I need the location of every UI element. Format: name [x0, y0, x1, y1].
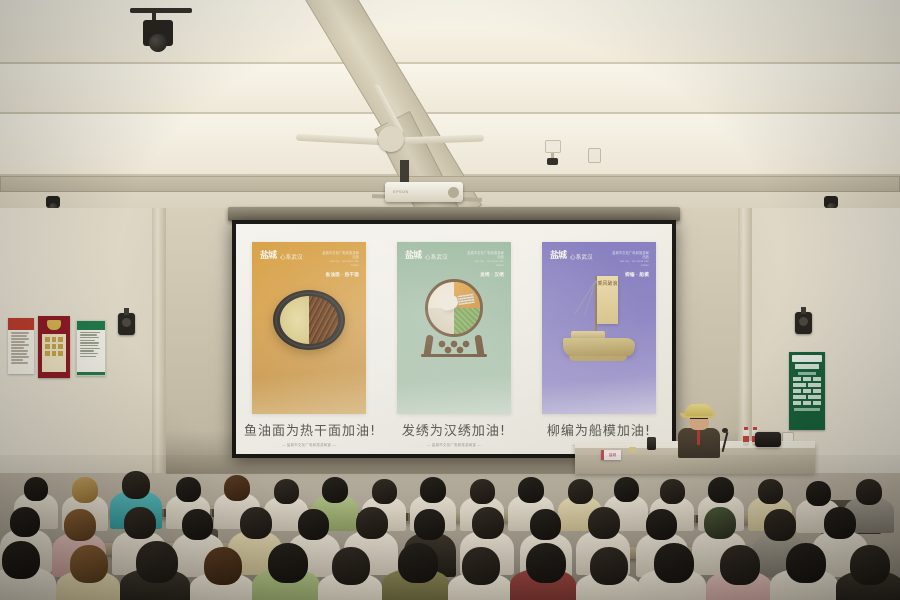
- poster-1: 盐城 心系武汉 盐城市文化广电和旅游局出品 salt city · we sta…: [252, 242, 366, 414]
- bowl-rim: [275, 292, 343, 348]
- boat-model-artwork: 乘风破浪: [557, 274, 641, 370]
- stand-scrollwork: [433, 339, 475, 355]
- audience-head: [758, 479, 783, 504]
- audience-head: [530, 509, 561, 540]
- speaker-bracket: [124, 308, 129, 315]
- lighting-rail: [130, 8, 192, 13]
- projector: EPSON: [385, 182, 463, 202]
- audience-head: [856, 479, 882, 505]
- projector-brand-label: EPSON: [393, 189, 409, 194]
- audience-head: [708, 477, 734, 503]
- caption-text: 发绣为汉绣加油!: [389, 420, 519, 439]
- presenter-cap: [685, 404, 713, 416]
- audience-head: [70, 545, 108, 583]
- audience-head: [568, 479, 593, 504]
- notice-header: [792, 355, 822, 362]
- ceiling-wall-box: [588, 148, 601, 163]
- audience-head: [356, 507, 388, 539]
- notice-header: [77, 321, 105, 330]
- meta-line-1: 盐城市文化广电和旅游局出品: [466, 251, 504, 260]
- notice-red: [8, 318, 34, 374]
- presenter-lanyard: [697, 429, 700, 445]
- audience-head: [72, 477, 98, 503]
- meta-line-2: salt city · we stand with wuhan: [321, 260, 359, 268]
- brand-slogan: 心系武汉: [570, 253, 593, 261]
- embroidery-quadrant: [428, 308, 454, 334]
- audience-head: [122, 471, 150, 499]
- fan-hub: [378, 126, 404, 152]
- camera-housing: [545, 140, 561, 153]
- poster-1-meta: 盐城市文化广电和旅游局出品 salt city · we stand with …: [321, 251, 359, 278]
- brand-mark: 盐城: [405, 251, 421, 262]
- audience-head: [764, 509, 796, 541]
- audience-head: [414, 509, 445, 540]
- audience-head: [462, 547, 500, 585]
- microphone-head: [722, 428, 728, 433]
- meta-line-1: 盐城市文化广电和旅游局出品: [321, 251, 359, 260]
- audience-head: [590, 547, 628, 585]
- notice-footer: [77, 372, 105, 375]
- wall-speaker-left: [118, 313, 135, 335]
- speaker-bracket: [801, 307, 806, 314]
- glasses-icon: [690, 418, 708, 423]
- caption-text: 柳编为船模加油!: [534, 420, 664, 439]
- audience-head: [10, 507, 40, 537]
- notice-header: [8, 318, 34, 330]
- sail-text: 乘风破浪: [597, 281, 618, 288]
- audience-head: [720, 545, 760, 585]
- noodle-bowl-artwork: [273, 290, 345, 350]
- poster-2-caption: 发绣为汉绣加油! — 盐城市文化广电和旅游局宣 —: [389, 420, 519, 447]
- audience-head: [786, 543, 826, 583]
- audience-head: [268, 543, 308, 583]
- spotlight-lens: [149, 34, 167, 52]
- projector-mount: [400, 160, 409, 184]
- notice-text-lines: [77, 330, 105, 359]
- audience-head: [274, 479, 299, 504]
- notice-green: [76, 320, 106, 376]
- audience-head: [420, 477, 446, 503]
- meta-line-2: salt city · we stand with wuhan: [466, 260, 504, 268]
- audience-head: [240, 507, 272, 539]
- wall-column-left: [152, 208, 166, 473]
- poster-1-logo: 盐城 心系武汉: [260, 251, 306, 262]
- brand-mark: 盐城: [550, 251, 566, 262]
- lecture-hall-photo: EPSON: [0, 0, 900, 600]
- fan-blade: [398, 135, 484, 145]
- poster-2-logo: 盐城 心系武汉: [405, 251, 451, 262]
- audience-head: [518, 477, 544, 503]
- audience-head: [24, 477, 48, 501]
- audience-head: [704, 507, 736, 539]
- audience-head: [472, 507, 504, 539]
- audience-head: [526, 543, 566, 583]
- audience-seating: [0, 455, 900, 600]
- brand-mark: 盐城: [260, 251, 276, 262]
- audience-head: [136, 541, 178, 583]
- water-bottle: [743, 430, 749, 446]
- meta-tag: 鱼油面 · 热干面: [321, 272, 359, 278]
- audience-head: [224, 475, 250, 501]
- meta-line-1: 盐城市文化广电和旅游局出品: [611, 251, 649, 260]
- desk-object-small: [629, 447, 636, 453]
- fan-blade: [296, 134, 382, 145]
- boat-hull: [563, 338, 635, 356]
- audience-head: [2, 541, 40, 579]
- poster-3-logo: 盐城 心系武汉: [550, 251, 596, 262]
- audience-head: [398, 543, 438, 583]
- audience-head: [372, 479, 397, 504]
- audience-head: [646, 509, 677, 540]
- audience-head: [850, 545, 890, 585]
- certificate-body: [42, 334, 67, 372]
- audience-head: [182, 509, 213, 540]
- audience-head: [298, 509, 329, 540]
- meta-tag: 发绣 · 汉绣: [466, 272, 504, 278]
- caption-subtext: — 盐城市文化广电和旅游局宣 —: [389, 442, 519, 447]
- certificate-plaque: [38, 316, 70, 378]
- security-camera: [545, 140, 561, 162]
- stand-base: [421, 354, 487, 357]
- audience-head: [588, 507, 620, 539]
- projection-screen[interactable]: 盐城 心系武汉 盐城市文化广电和旅游局出品 salt city · we sta…: [236, 224, 672, 454]
- wall-speaker-right: [795, 312, 812, 334]
- ceiling-fan: [300, 120, 480, 160]
- laptop-bag: [755, 432, 781, 447]
- desk-microphone-base: [647, 437, 656, 450]
- poster-1-caption: 鱼油面为热干面加油! — 盐城市文化广电和旅游局宣 —: [244, 420, 374, 447]
- audience-head: [64, 509, 96, 541]
- boat-sail: 乘风破浪: [597, 276, 618, 324]
- embroidery-quadrant: [454, 308, 480, 334]
- camera-head: [547, 158, 558, 165]
- audience-head: [470, 479, 495, 504]
- notice-subheader: [795, 364, 819, 369]
- audience-head: [176, 477, 201, 502]
- embroidery-artwork: [419, 279, 489, 357]
- poster-2: 盐城 心系武汉 盐城市文化广电和旅游局出品 salt city · we sta…: [397, 242, 511, 414]
- audience-head: [322, 477, 348, 503]
- audience-head: [806, 481, 831, 506]
- caption-text: 鱼油面为热干面加油!: [244, 420, 374, 439]
- audience-head: [124, 507, 156, 539]
- caption-subtext: — 盐城市文化广电和旅游局宣 —: [244, 442, 374, 447]
- notice-green-evacuation: [789, 352, 825, 430]
- boat-keel: [569, 356, 627, 361]
- audience-head: [204, 547, 242, 585]
- slide-content: 盐城 心系武汉 盐城市文化广电和旅游局出品 salt city · we sta…: [236, 224, 672, 454]
- presenter: [676, 404, 722, 456]
- projector-lens: [448, 187, 459, 198]
- certificate-emblem: [47, 320, 61, 330]
- poster-3: 盐城 心系武汉 盐城市文化广电和旅游局出品 salt city · we sta…: [542, 242, 656, 414]
- audience-head: [824, 507, 856, 539]
- audience-head: [660, 479, 685, 504]
- audience-head: [332, 547, 370, 585]
- poster-2-meta: 盐城市文化广电和旅游局出品 salt city · we stand with …: [466, 251, 504, 278]
- meta-line-2: salt city · we stand with wuhan: [611, 260, 649, 268]
- screen-roller-casing: [228, 207, 680, 221]
- brand-slogan: 心系武汉: [280, 253, 303, 261]
- notice-text-lines: [8, 330, 34, 365]
- brand-slogan: 心系武汉: [425, 253, 448, 261]
- audience-head: [654, 543, 694, 583]
- embroidery-stand: [419, 333, 489, 357]
- embroidery-disc: [425, 279, 483, 337]
- audience-head: [614, 477, 639, 502]
